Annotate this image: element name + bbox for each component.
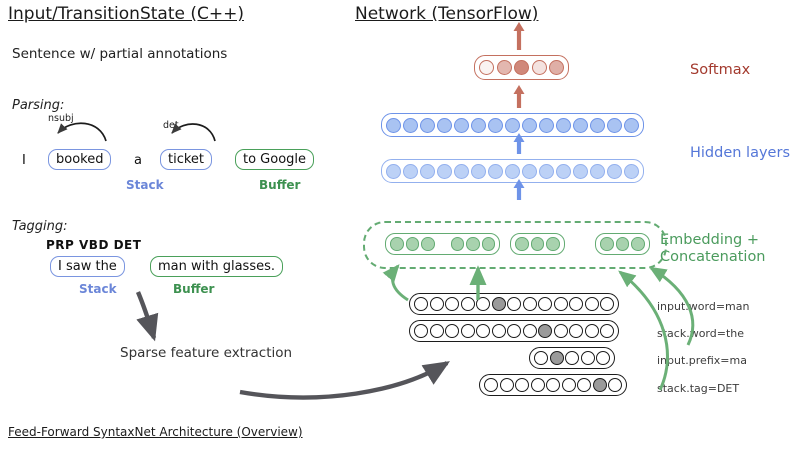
neuron bbox=[406, 237, 420, 251]
tagging-stack-box: I saw the bbox=[50, 256, 125, 277]
neuron bbox=[403, 164, 418, 179]
hidden-layer-1 bbox=[381, 113, 644, 137]
tagging-section-label: Tagging: bbox=[12, 219, 68, 234]
feature-row-3 bbox=[479, 374, 627, 396]
neuron bbox=[523, 324, 537, 338]
left-panel-title: Input/TransitionState (C++) bbox=[8, 4, 244, 24]
tagging-buffer-label: Buffer bbox=[173, 282, 214, 296]
tagging-stack-label: Stack bbox=[79, 282, 117, 296]
tagging-buffer-box: man with glasses. bbox=[150, 256, 283, 277]
neuron bbox=[554, 324, 568, 338]
neuron bbox=[454, 118, 469, 133]
neuron bbox=[534, 351, 548, 365]
parsing-section-label: Parsing: bbox=[12, 98, 64, 113]
arrow-to-feature-rows bbox=[240, 363, 447, 397]
feature-row-1 bbox=[409, 320, 619, 342]
arrow-hidden-to-softmax-head bbox=[514, 85, 525, 94]
arrow-feature-0-to-embedding bbox=[393, 266, 408, 300]
neuron bbox=[461, 297, 475, 311]
embedding-group-1 bbox=[510, 233, 565, 255]
neuron bbox=[590, 118, 605, 133]
neuron bbox=[631, 237, 645, 251]
neuron bbox=[569, 297, 583, 311]
neuron bbox=[476, 324, 490, 338]
neuron bbox=[414, 324, 428, 338]
neuron bbox=[600, 297, 614, 311]
feature-label-2: input.prefix=ma bbox=[657, 354, 747, 367]
neuron bbox=[577, 378, 591, 392]
parse-token-a: a bbox=[134, 153, 142, 168]
neuron bbox=[437, 118, 452, 133]
neuron bbox=[608, 378, 622, 392]
neuron bbox=[505, 164, 520, 179]
arc-label-nsubj: nsubj bbox=[48, 113, 74, 124]
neuron bbox=[437, 164, 452, 179]
neuron bbox=[562, 378, 576, 392]
neuron bbox=[569, 324, 583, 338]
neuron bbox=[420, 118, 435, 133]
neuron bbox=[585, 297, 599, 311]
neuron bbox=[471, 118, 486, 133]
parse-token-to-google: to Google bbox=[235, 149, 314, 170]
neuron bbox=[445, 297, 459, 311]
softmax-label: Softmax bbox=[690, 62, 750, 79]
parse-buffer-label: Buffer bbox=[259, 178, 300, 192]
neuron bbox=[466, 237, 480, 251]
feature-label-1: stack.word=the bbox=[657, 327, 744, 340]
neuron bbox=[616, 237, 630, 251]
neuron bbox=[454, 164, 469, 179]
neuron bbox=[607, 164, 622, 179]
neuron bbox=[515, 237, 529, 251]
neuron bbox=[505, 118, 520, 133]
neuron bbox=[430, 324, 444, 338]
feature-label-0: input.word=man bbox=[657, 300, 749, 313]
neuron bbox=[522, 164, 537, 179]
neuron bbox=[600, 324, 614, 338]
neuron bbox=[600, 237, 614, 251]
neuron bbox=[488, 164, 503, 179]
embedding-label-line2: Concatenation bbox=[660, 249, 766, 265]
neuron bbox=[593, 378, 607, 392]
neuron bbox=[531, 237, 545, 251]
neuron bbox=[538, 324, 552, 338]
neuron bbox=[581, 351, 595, 365]
left-subtitle: Sentence w/ partial annotations bbox=[12, 46, 227, 62]
feature-row-2 bbox=[529, 347, 615, 369]
dep-arc-nsubj bbox=[58, 123, 106, 141]
neuron bbox=[421, 237, 435, 251]
neuron bbox=[546, 237, 560, 251]
embedding-group-2 bbox=[595, 233, 650, 255]
arrow-to-sparse-extraction bbox=[138, 292, 154, 338]
parse-stack-label: Stack bbox=[126, 178, 164, 192]
hidden-layers-label: Hidden layers bbox=[690, 145, 790, 162]
parse-token-booked: booked bbox=[48, 149, 111, 170]
neuron bbox=[514, 60, 529, 75]
embedding-label: Embedding + Concatenation bbox=[660, 232, 766, 265]
neuron bbox=[573, 118, 588, 133]
neuron bbox=[556, 118, 571, 133]
neuron bbox=[386, 118, 401, 133]
neuron bbox=[482, 237, 496, 251]
neuron bbox=[539, 118, 554, 133]
neuron bbox=[554, 297, 568, 311]
neuron bbox=[488, 118, 503, 133]
tagging-tags: PRP VBD DET bbox=[46, 238, 141, 252]
neuron bbox=[624, 118, 639, 133]
neuron bbox=[624, 164, 639, 179]
neuron bbox=[607, 118, 622, 133]
neuron bbox=[522, 118, 537, 133]
parse-token-i: I bbox=[22, 153, 26, 168]
neuron bbox=[507, 297, 521, 311]
neuron bbox=[523, 297, 537, 311]
neuron bbox=[414, 297, 428, 311]
neuron bbox=[484, 378, 498, 392]
neuron bbox=[492, 324, 506, 338]
neuron bbox=[492, 297, 506, 311]
neuron bbox=[590, 164, 605, 179]
neuron bbox=[386, 164, 401, 179]
feature-label-3: stack.tag=DET bbox=[657, 382, 739, 395]
neuron bbox=[539, 164, 554, 179]
neuron bbox=[565, 351, 579, 365]
neuron bbox=[573, 164, 588, 179]
sparse-feature-extraction-label: Sparse feature extraction bbox=[120, 345, 292, 361]
neuron bbox=[420, 164, 435, 179]
embedding-group-0 bbox=[385, 233, 500, 255]
neuron bbox=[451, 237, 465, 251]
neuron bbox=[538, 297, 552, 311]
neuron bbox=[531, 378, 545, 392]
neuron bbox=[430, 297, 444, 311]
neuron bbox=[497, 60, 512, 75]
neuron bbox=[532, 60, 547, 75]
feature-row-0 bbox=[409, 293, 619, 315]
neuron bbox=[549, 60, 564, 75]
neuron bbox=[596, 351, 610, 365]
neuron bbox=[546, 378, 560, 392]
embedding-label-line1: Embedding + bbox=[660, 232, 759, 248]
neuron bbox=[507, 324, 521, 338]
neuron bbox=[479, 60, 494, 75]
neuron bbox=[403, 118, 418, 133]
hidden-layer-2 bbox=[381, 159, 644, 183]
neuron bbox=[515, 378, 529, 392]
neuron bbox=[500, 378, 514, 392]
neuron bbox=[461, 324, 475, 338]
neuron bbox=[445, 324, 459, 338]
softmax-layer bbox=[474, 55, 569, 80]
arc-label-det: det bbox=[163, 120, 179, 131]
neuron bbox=[471, 164, 486, 179]
neuron bbox=[476, 297, 490, 311]
neuron bbox=[556, 164, 571, 179]
neuron bbox=[585, 324, 599, 338]
neuron bbox=[390, 237, 404, 251]
parse-token-ticket: ticket bbox=[160, 149, 212, 170]
footer-caption: Feed-Forward SyntaxNet Architecture (Ove… bbox=[8, 425, 303, 439]
neuron bbox=[550, 351, 564, 365]
right-panel-title: Network (TensorFlow) bbox=[355, 4, 538, 24]
